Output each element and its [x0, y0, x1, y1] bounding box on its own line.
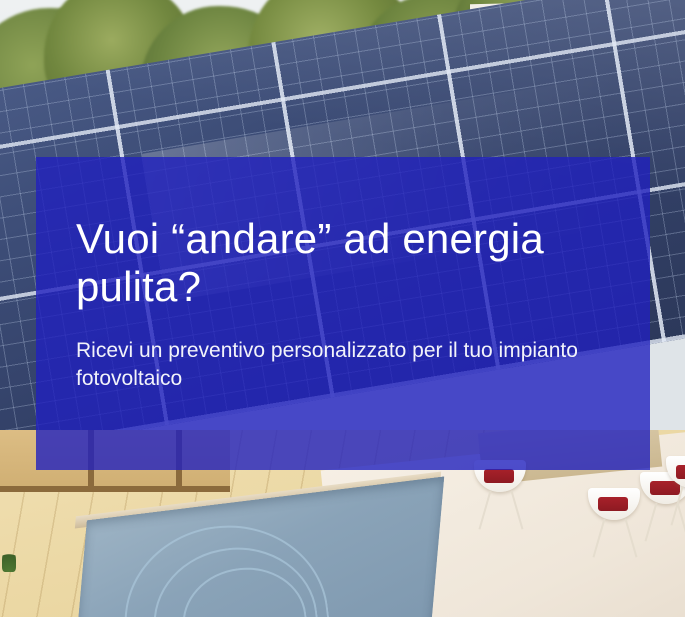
wall-frame: [0, 486, 230, 492]
chair-cushion: [650, 481, 680, 495]
hero-text-overlay: Vuoi “andare” ad energia pulita? Ricevi …: [36, 157, 650, 470]
chair-cushion: [676, 465, 685, 479]
chair-cushion: [484, 469, 514, 483]
potted-plant: [2, 548, 16, 572]
hero-title: Vuoi “andare” ad energia pulita?: [76, 215, 610, 311]
chair-cushion: [598, 497, 628, 511]
hero-banner: Vuoi “andare” ad energia pulita? Ricevi …: [0, 0, 685, 617]
hero-subtitle: Ricevi un preventivo personalizzato per …: [76, 337, 596, 394]
